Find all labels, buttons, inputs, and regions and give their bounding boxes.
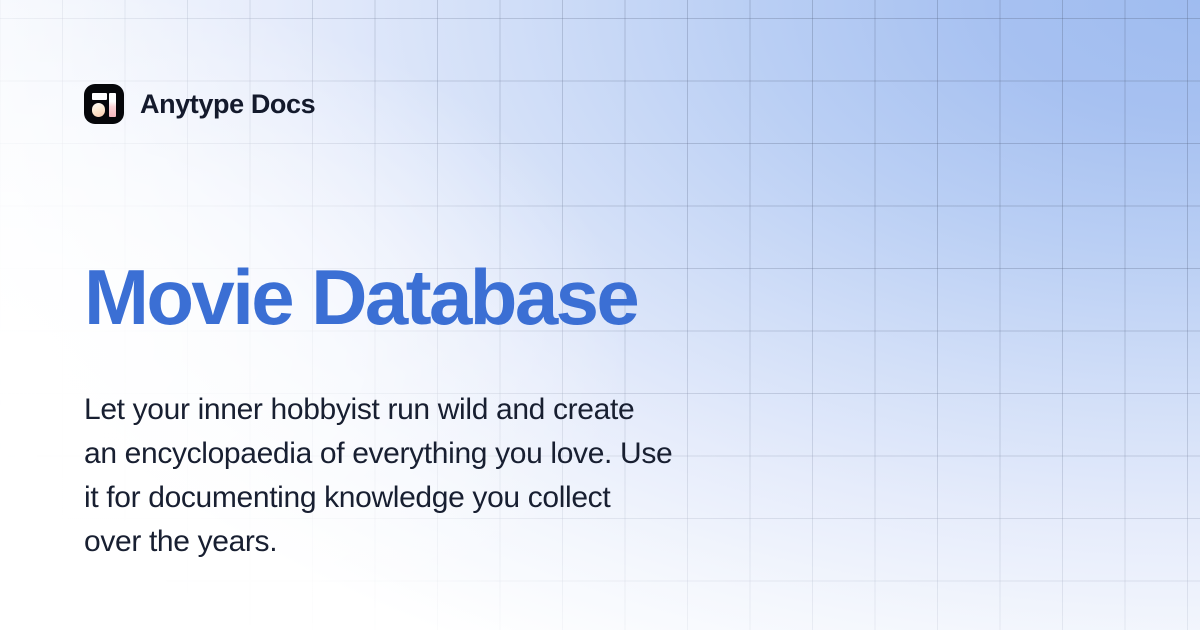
anytype-logo-icon xyxy=(84,84,124,124)
description-line: an encyclopaedia of everything you love.… xyxy=(84,432,884,476)
page-title: Movie Database xyxy=(84,258,637,336)
page-description: Let your inner hobbyist run wild and cre… xyxy=(84,388,884,564)
brand-lockup: Anytype Docs xyxy=(84,84,315,124)
description-line: over the years. xyxy=(84,520,884,564)
banner-content: Anytype Docs Movie Database Let your inn… xyxy=(84,0,1084,630)
description-line: it for documenting knowledge you collect xyxy=(84,476,884,520)
anytype-docs-og-banner: Anytype Docs Movie Database Let your inn… xyxy=(0,0,1200,630)
logo-circle-shape xyxy=(92,103,106,117)
description-line: Let your inner hobbyist run wild and cre… xyxy=(84,388,884,432)
logo-bar-shape xyxy=(92,93,107,100)
logo-tall-bar-shape xyxy=(109,93,116,117)
brand-name-label: Anytype Docs xyxy=(140,89,315,120)
